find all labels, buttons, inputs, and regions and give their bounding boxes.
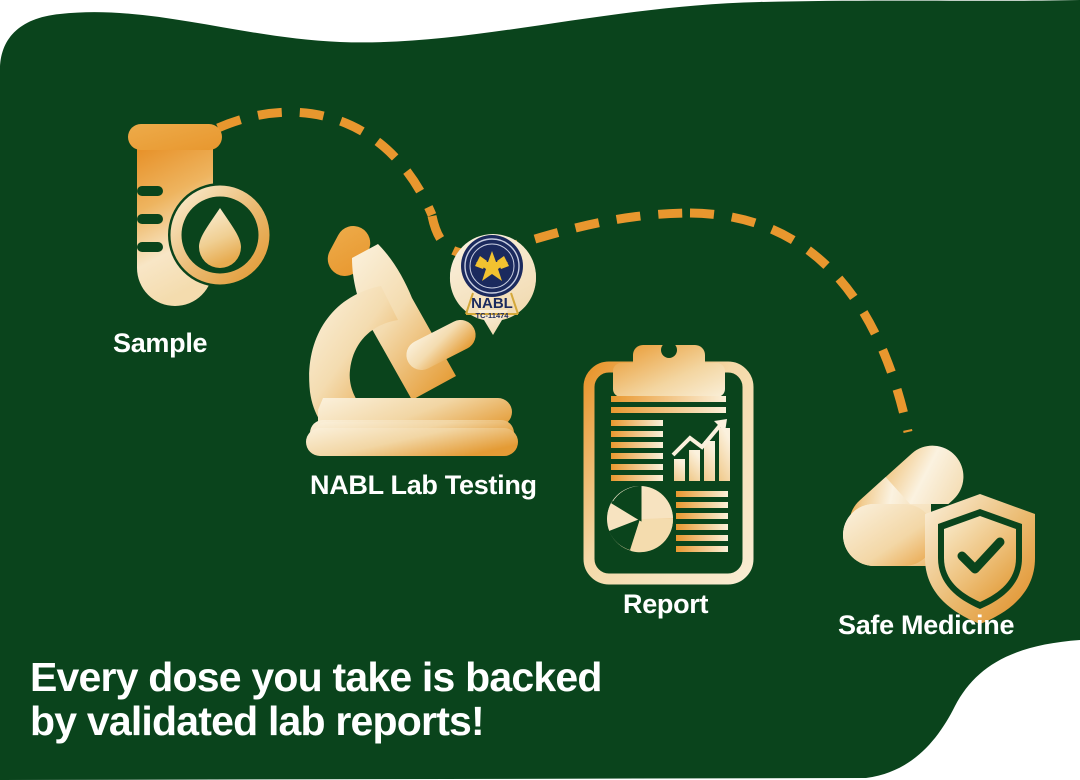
infographic-canvas: NABL TC-11474 [0,0,1080,780]
step-label-safe-medicine: Safe Medicine [838,612,1014,639]
capsules-with-shield-check-icon [837,433,1035,624]
step-label-report: Report [623,591,708,618]
report-pie-chart-icon [607,486,673,552]
clipboard-report-icon [589,342,748,579]
step-label-sample: Sample [113,330,207,357]
nabl-badge-certificate-number: TC-11474 [476,311,510,320]
test-tube-with-blood-drop-magnifier-icon [128,124,272,306]
report-bar-chart-icon [673,419,730,481]
step-label-nabl-lab-testing: NABL Lab Testing [310,472,537,499]
headline-text: Every dose you take is backed by validat… [30,655,602,744]
nabl-badge-name: NABL [471,295,513,312]
